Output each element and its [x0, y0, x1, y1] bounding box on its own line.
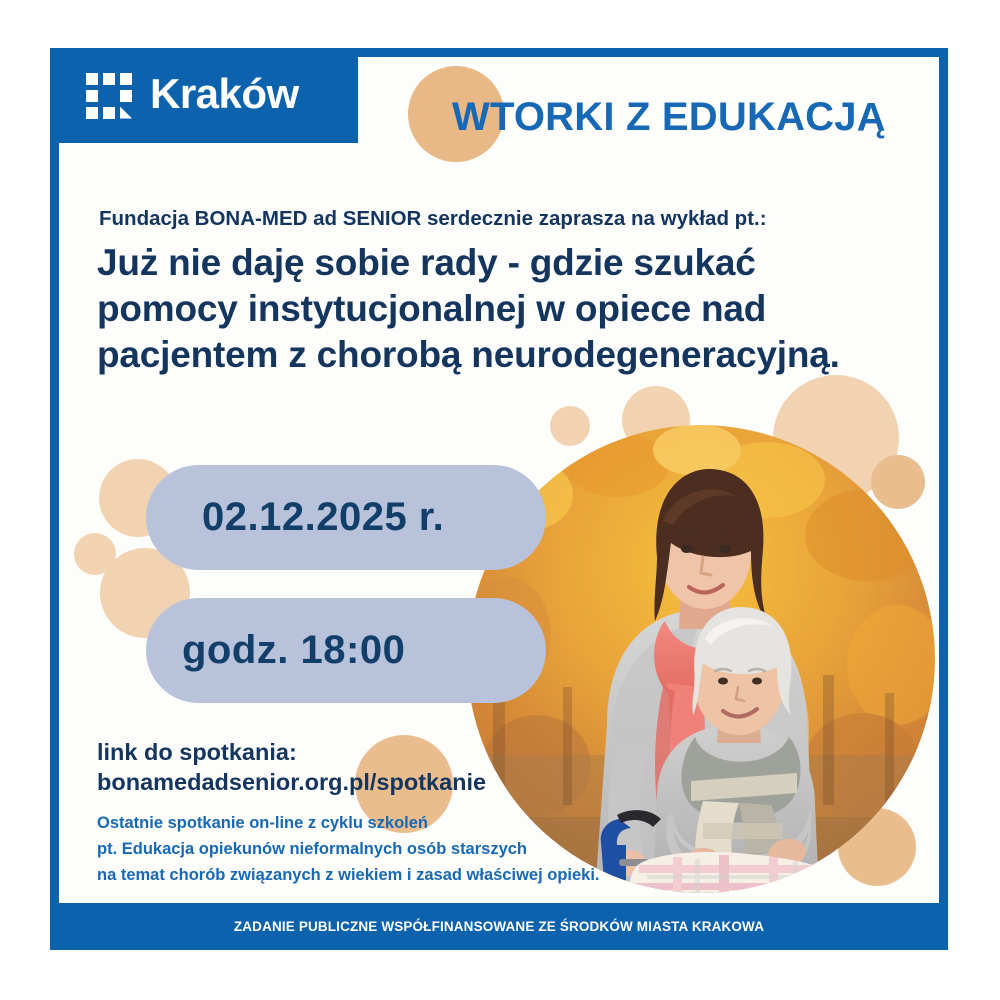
krakow-grid-icon — [86, 73, 132, 119]
series-note: Ostatnie spotkanie on-line z cyklu szkol… — [97, 810, 600, 888]
event-date-pill: 02.12.2025 r. — [146, 465, 546, 570]
series-note-line-1: Ostatnie spotkanie on-line z cyklu szkol… — [97, 810, 600, 836]
footer-funding-text: ZADANIE PUBLICZNE WSPÓŁFINANSOWANE ZE ŚR… — [50, 903, 948, 950]
frame-left-border — [50, 48, 59, 950]
decor-circle-6 — [871, 455, 925, 509]
lecture-headline: Już nie daję sobie rady - gdzie szukać p… — [97, 240, 907, 378]
poster: Kraków WTORKI Z EDUKACJĄ Fundacja BONA-M… — [0, 0, 1000, 1000]
frame-top-border — [50, 48, 948, 57]
series-note-line-3: na temat chorób związanych z wiekiem i z… — [97, 862, 600, 888]
page-title: WTORKI Z EDUKACJĄ — [452, 95, 932, 140]
decor-circle-7 — [550, 406, 590, 446]
intro-line: Fundacja BONA-MED ad SENIOR serdecznie z… — [99, 207, 767, 231]
headline-line-3: pacjentem z chorobą neurodegeneracyjną. — [97, 332, 907, 378]
frame-right-border — [939, 48, 948, 950]
series-note-line-2: pt. Edukacja opiekunów nieformalnych osó… — [97, 836, 600, 862]
event-time-pill: godz. 18:00 — [146, 598, 546, 703]
meeting-link-url[interactable]: bonamedadsenior.org.pl/spotkanie — [97, 767, 486, 797]
event-time-text: godz. 18:00 — [146, 628, 405, 673]
headline-line-2: pomocy instytucjonalnej w opiece nad — [97, 286, 907, 332]
krakow-logo-block: Kraków — [50, 48, 358, 143]
krakow-logo-wordmark: Kraków — [150, 73, 299, 115]
headline-line-1: Już nie daję sobie rady - gdzie szukać — [97, 240, 907, 286]
meeting-link-label: link do spotkania: — [97, 737, 486, 767]
meeting-link-block: link do spotkania: bonamedadsenior.org.p… — [97, 737, 486, 797]
event-date-text: 02.12.2025 r. — [146, 495, 444, 540]
